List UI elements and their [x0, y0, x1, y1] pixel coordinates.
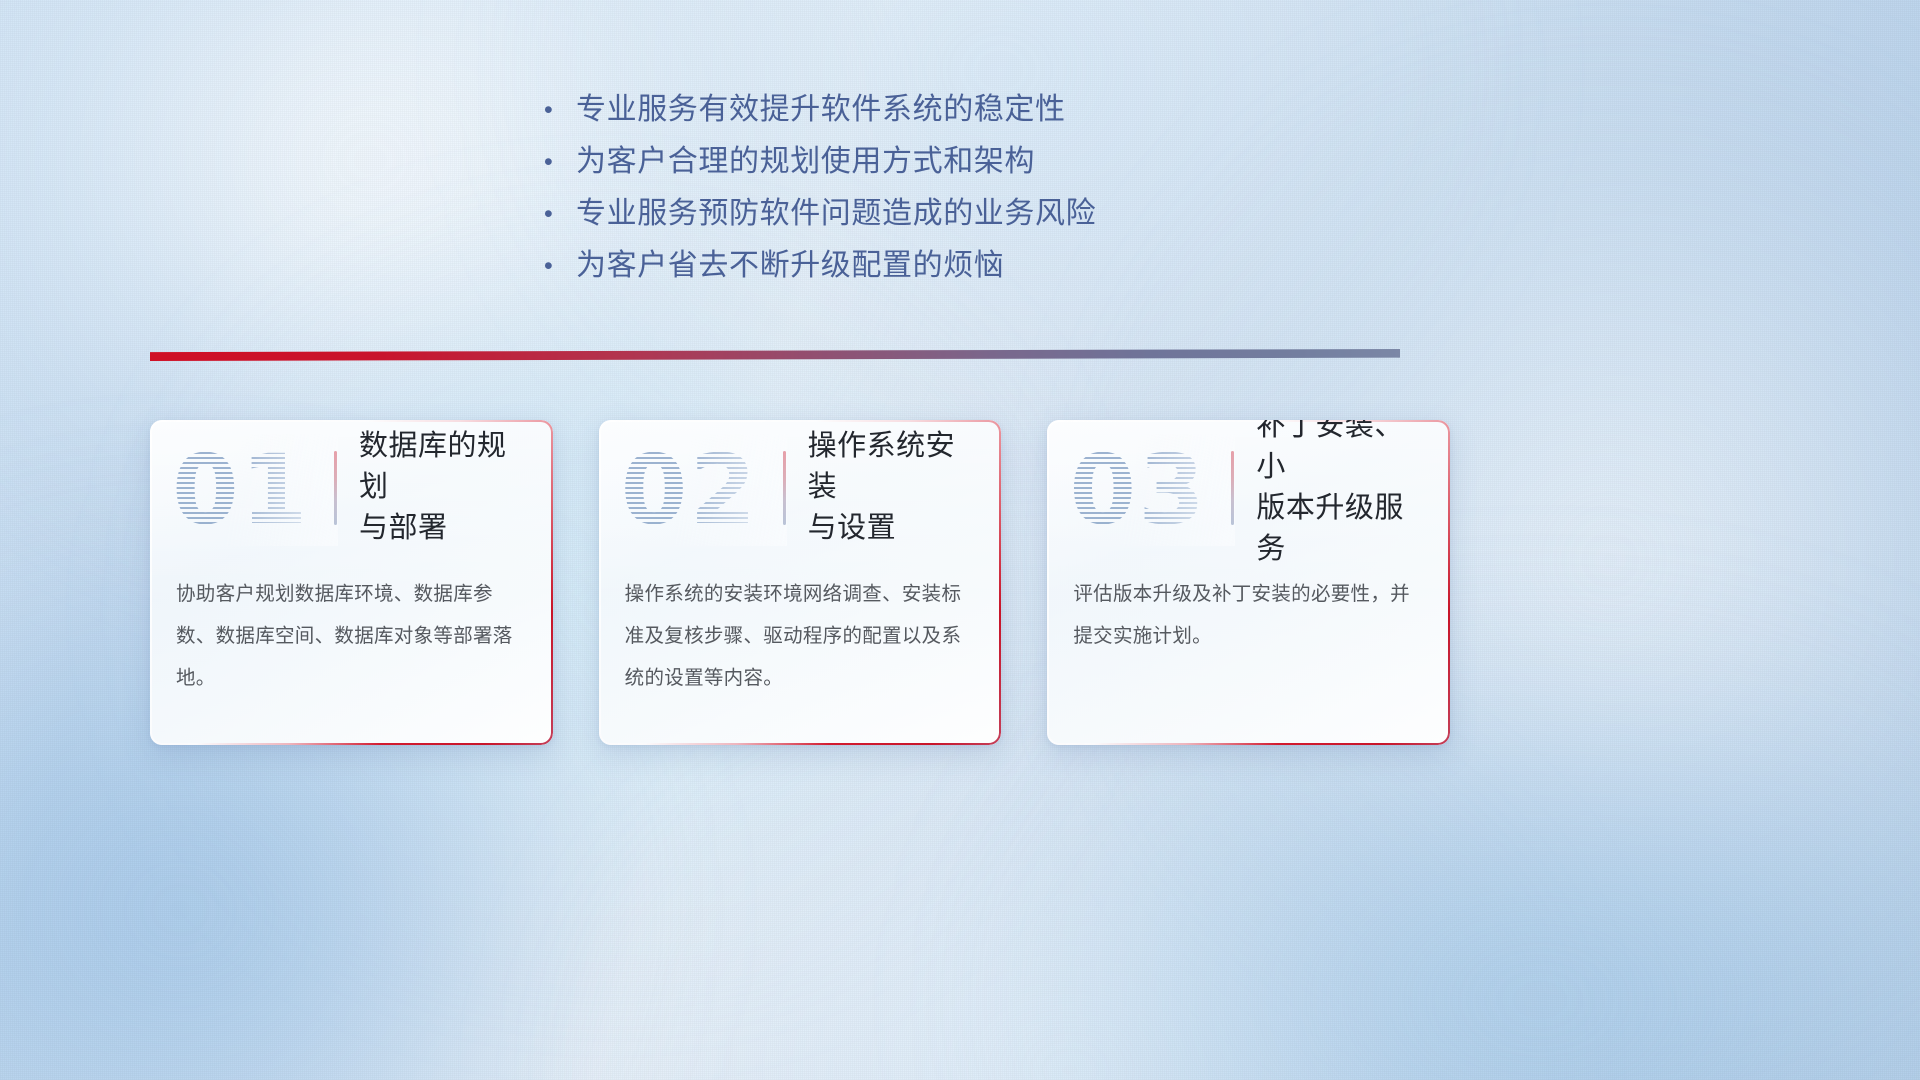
service-card-01[interactable]: 01 数据库的规划 与部署 协助客户规划数据库环境、数据库参数、数据库空间、数据…	[150, 420, 553, 745]
bullet-text: 为客户合理的规划使用方式和架构	[576, 140, 1035, 184]
card-title-line-2: 与设置	[808, 508, 984, 549]
card-header: 02 操作系统安装 与设置	[599, 420, 1002, 555]
card-title: 数据库的规划 与部署	[359, 426, 535, 549]
divider-wedge-shape	[150, 349, 1400, 363]
card-number: 03	[1069, 442, 1229, 538]
card-title-line-1: 操作系统安装	[808, 426, 984, 508]
list-item: • 为客户合理的规划使用方式和架构	[540, 140, 1440, 192]
list-item: • 为客户省去不断升级配置的烦恼	[540, 244, 1440, 296]
card-accent-rule	[783, 451, 786, 525]
card-accent-rule	[1231, 451, 1234, 525]
card-number: 02	[621, 442, 781, 538]
card-body-text: 协助客户规划数据库环境、数据库参数、数据库空间、数据库对象等部署落地。	[150, 555, 553, 699]
card-title-line-2: 与部署	[359, 508, 535, 549]
service-card-row: 01 数据库的规划 与部署 协助客户规划数据库环境、数据库参数、数据库空间、数据…	[150, 420, 1450, 745]
service-card-02[interactable]: 02 操作系统安装 与设置 操作系统的安装环境网络调查、安装标准及复核步骤、驱动…	[599, 420, 1002, 745]
bullet-text: 专业服务预防软件问题造成的业务风险	[576, 192, 1096, 236]
section-divider	[150, 349, 1400, 363]
bullet-dot-icon: •	[540, 140, 576, 184]
bullet-dot-icon: •	[540, 192, 576, 236]
card-accent-rule	[334, 451, 337, 525]
list-item: • 专业服务预防软件问题造成的业务风险	[540, 192, 1440, 244]
service-card-03[interactable]: 03 补丁安装、小 版本升级服务 评估版本升级及补丁安装的必要性，并提交实施计划…	[1047, 420, 1450, 745]
bullet-text: 专业服务有效提升软件系统的稳定性	[576, 88, 1066, 132]
bullet-dot-icon: •	[540, 244, 576, 288]
card-header: 01 数据库的规划 与部署	[150, 420, 553, 555]
bullet-text: 为客户省去不断升级配置的烦恼	[576, 244, 1004, 288]
list-item: • 专业服务有效提升软件系统的稳定性	[540, 88, 1440, 140]
card-number: 01	[172, 442, 332, 538]
bullet-dot-icon: •	[540, 88, 576, 132]
card-body-text: 评估版本升级及补丁安装的必要性，并提交实施计划。	[1047, 555, 1450, 657]
card-body-text: 操作系统的安装环境网络调查、安装标准及复核步骤、驱动程序的配置以及系统的设置等内…	[599, 555, 1002, 699]
card-title-line-1: 补丁安装、小	[1256, 420, 1432, 488]
card-header: 03 补丁安装、小 版本升级服务	[1047, 420, 1450, 555]
card-title: 补丁安装、小 版本升级服务	[1256, 420, 1432, 570]
card-title: 操作系统安装 与设置	[808, 426, 984, 549]
card-title-line-1: 数据库的规划	[359, 426, 535, 508]
benefits-bullet-list: • 专业服务有效提升软件系统的稳定性 • 为客户合理的规划使用方式和架构 • 专…	[540, 88, 1440, 296]
